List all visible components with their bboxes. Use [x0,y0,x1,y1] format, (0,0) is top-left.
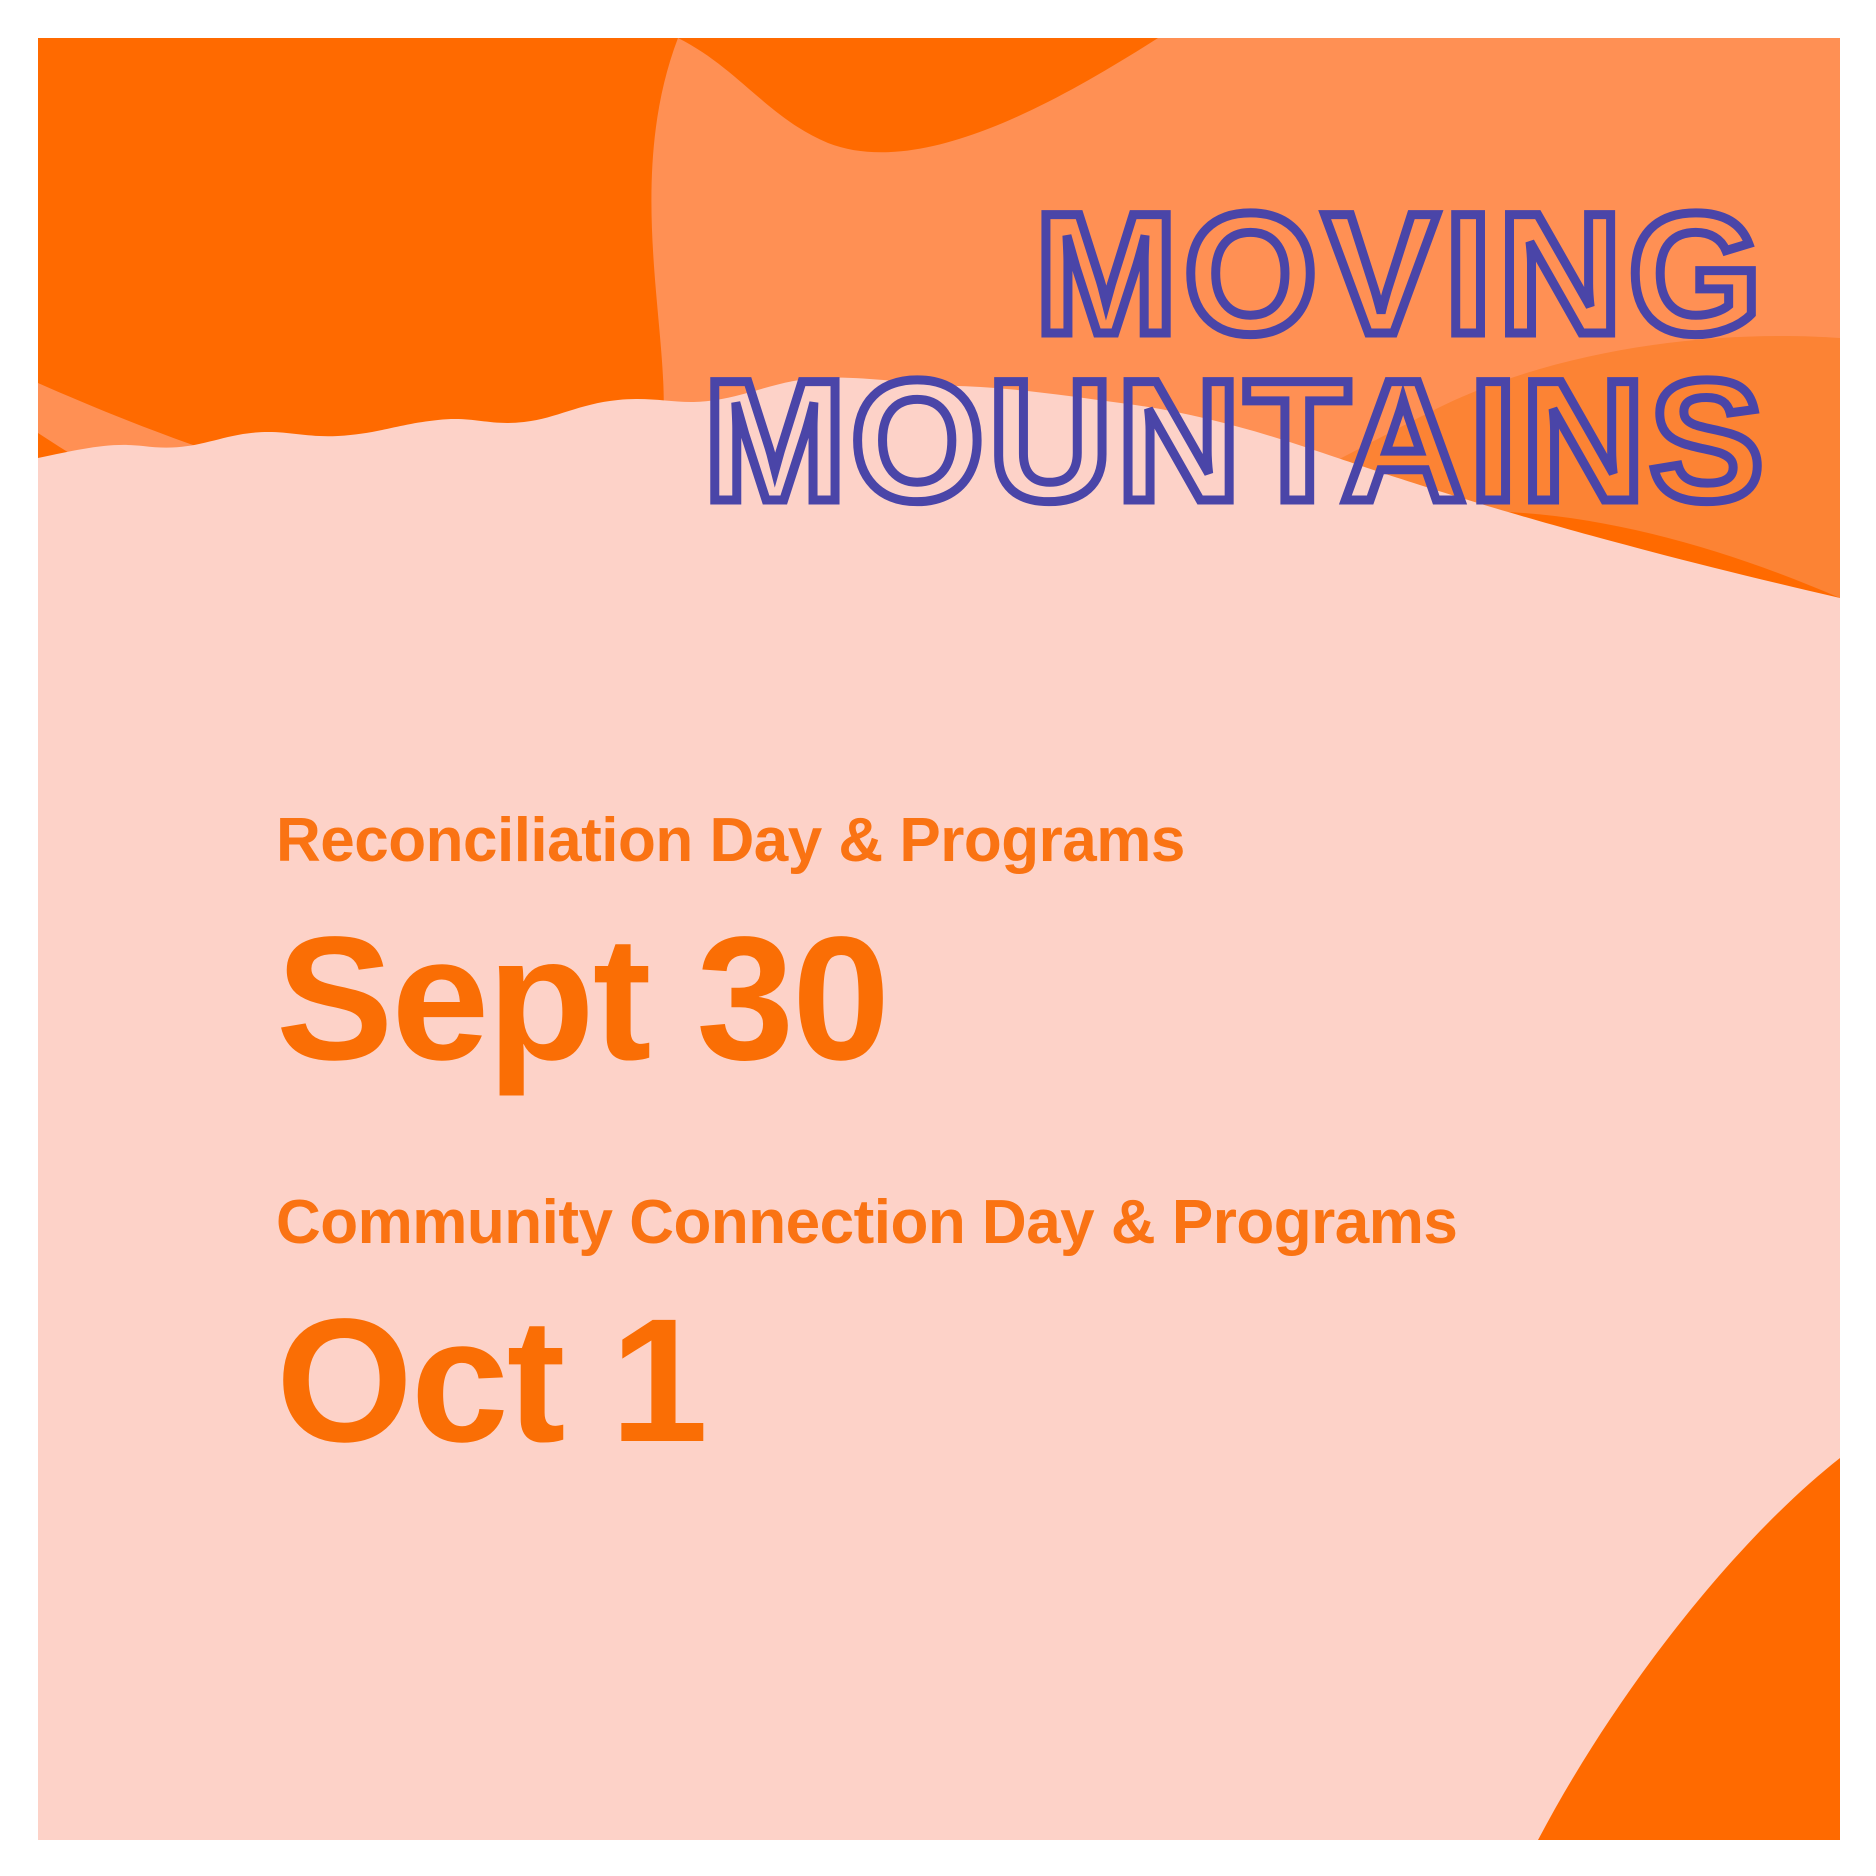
event-item-reconciliation-day: Reconciliation Day & Programs Sept 30 [276,808,1756,1098]
event-item-community-connection-day: Community Connection Day & Programs Oct … [276,1190,1756,1480]
poster-canvas: MOVING MOUNTAINS Reconciliation Day & Pr… [38,38,1840,1840]
event-label: Reconciliation Day & Programs [276,808,1756,875]
page-title: MOVING MOUNTAINS [148,193,1768,524]
event-date: Sept 30 [276,901,1756,1098]
headline-line-1: MOVING [148,193,1768,356]
event-label: Community Connection Day & Programs [276,1190,1746,1257]
event-list: Reconciliation Day & Programs Sept 30 Co… [276,808,1756,1484]
event-date: Oct 1 [276,1283,1756,1480]
headline-line-2: MOUNTAINS [148,360,1768,523]
